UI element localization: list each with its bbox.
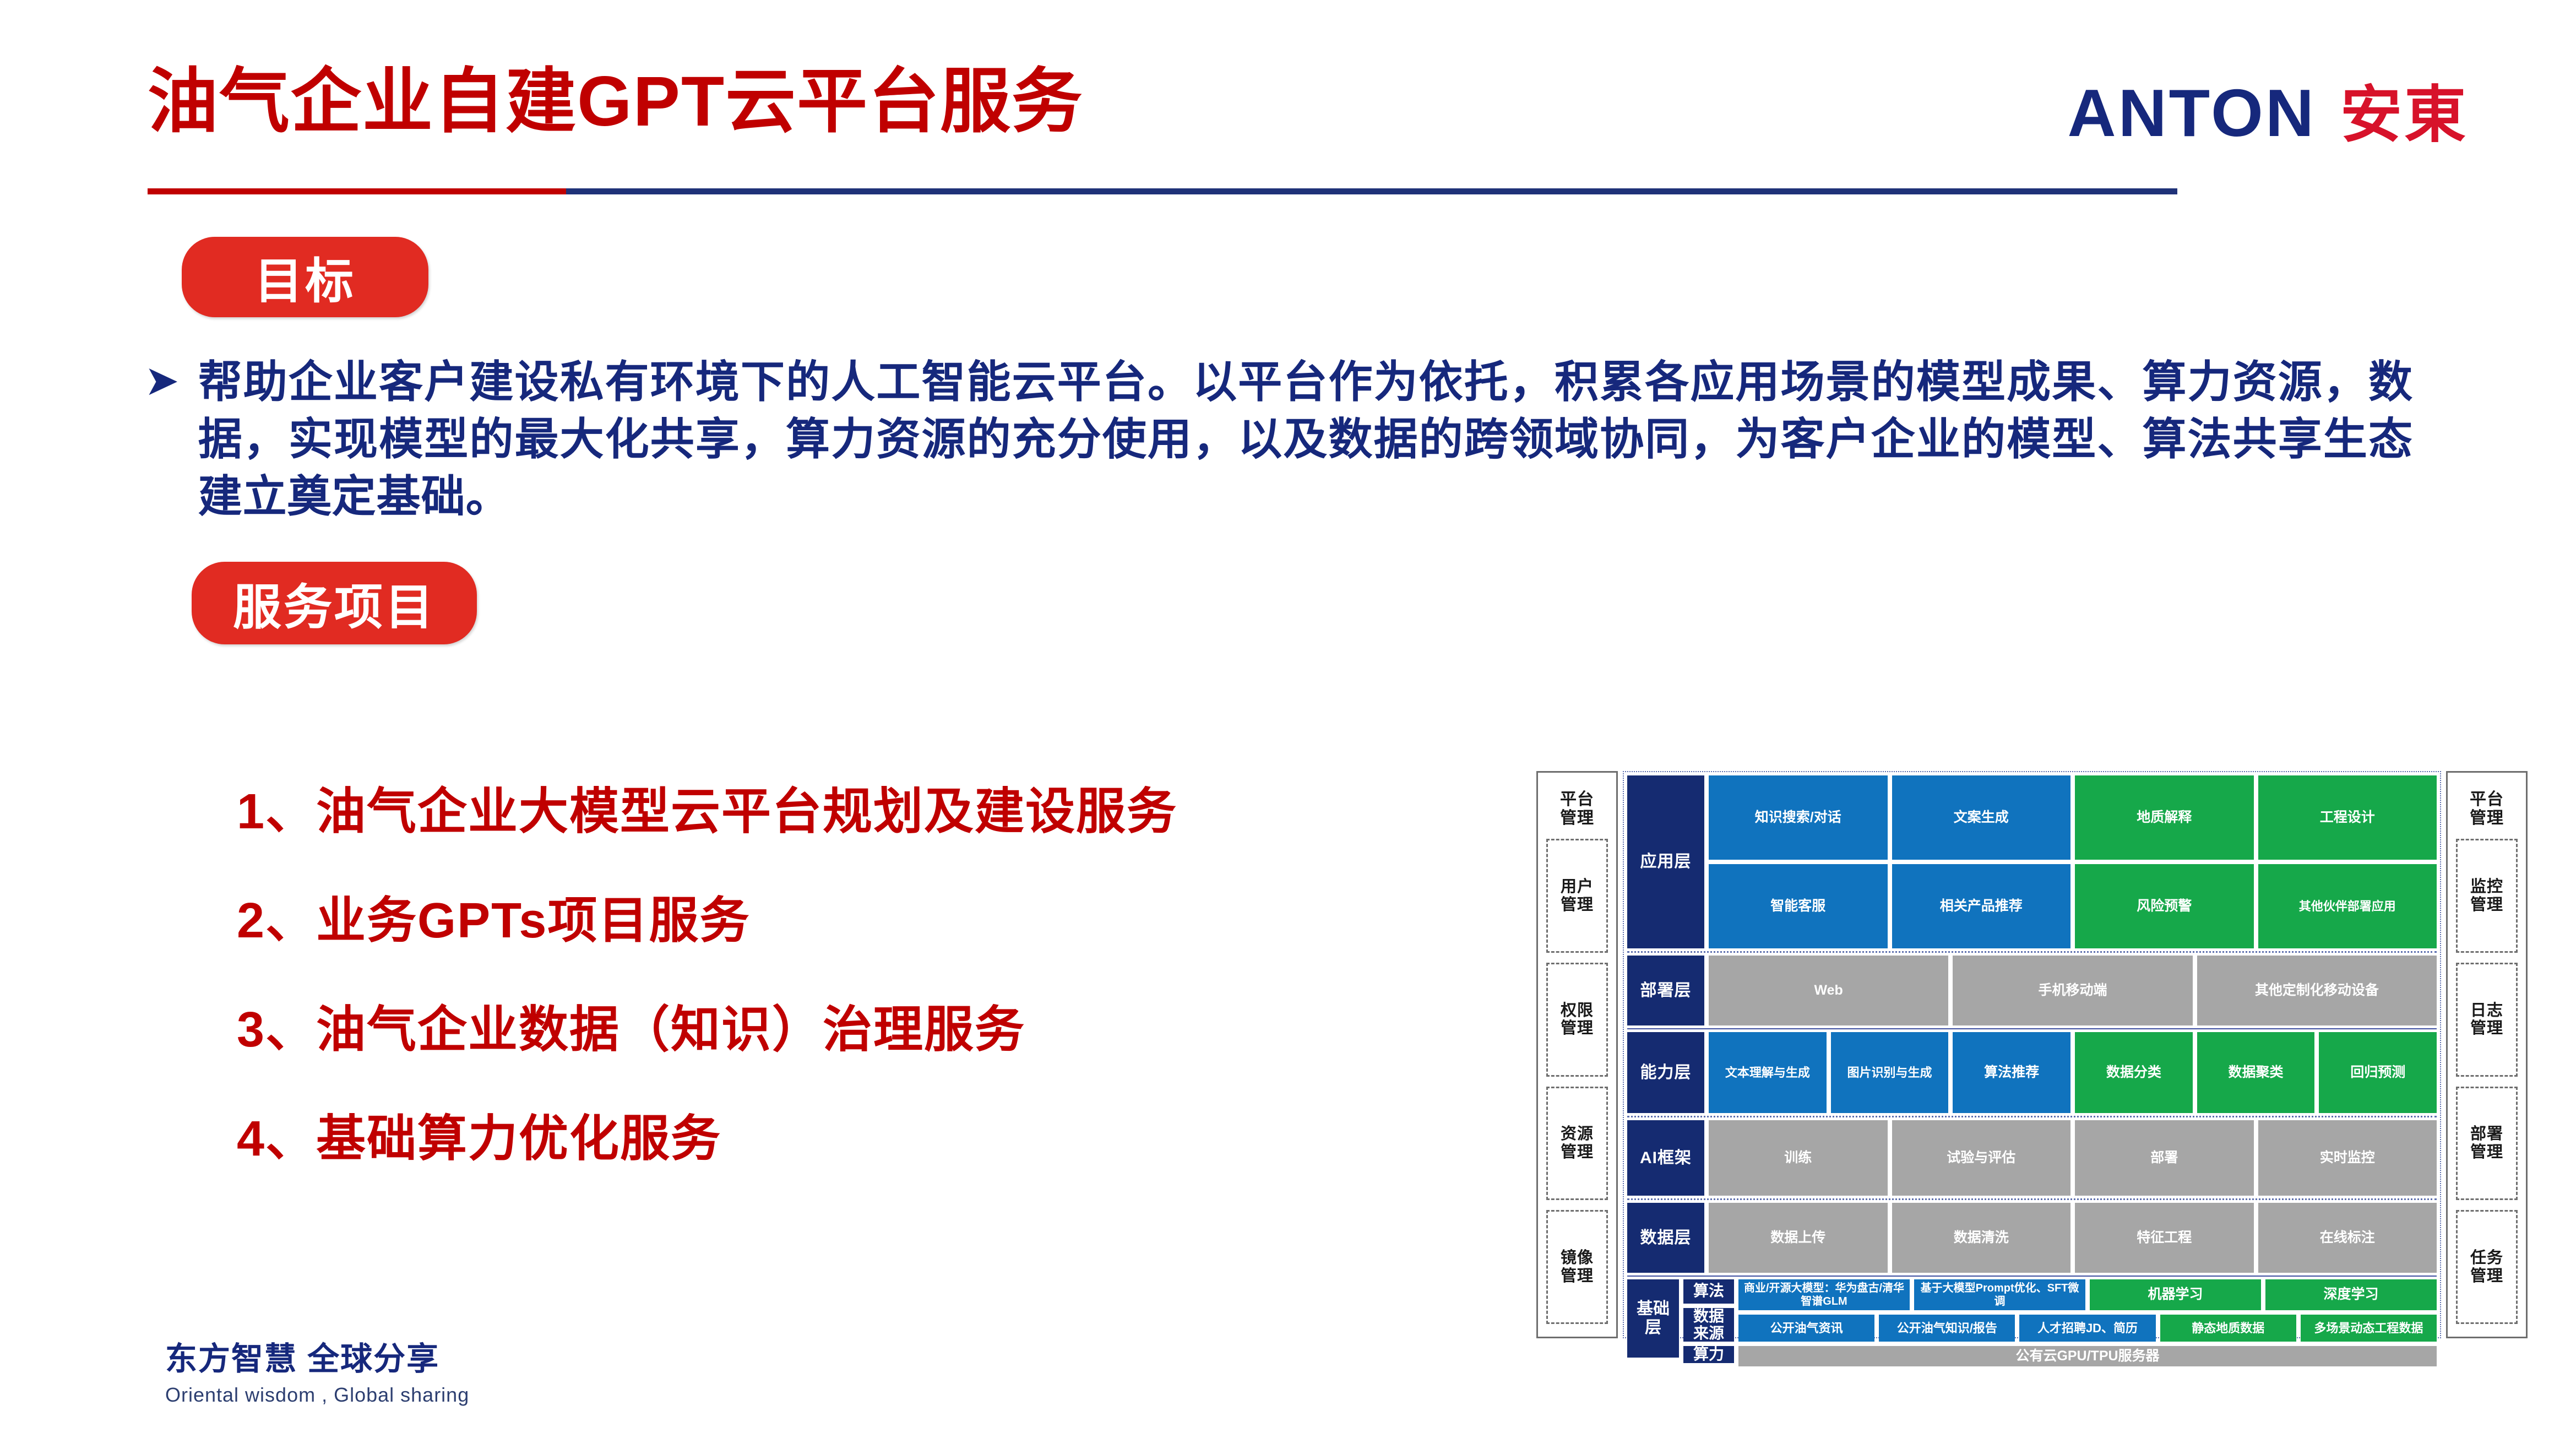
tile-engineering-design: 工程设计 — [2258, 775, 2437, 860]
triangle-right-bullet-icon: ➤ — [144, 354, 180, 525]
service-item-number: 2、 — [237, 891, 316, 951]
tile-knowledge-search-dialog: 知识搜索/对话 — [1709, 775, 1888, 860]
tile-row: 公有云GPU/TPU服务器 — [1738, 1346, 2437, 1366]
tile-online-annotation: 在线标注 — [2258, 1203, 2437, 1273]
mgmt-box-monitoring-line2: 管理 — [2470, 896, 2503, 914]
tile-data-cleaning: 数据清洗 — [1892, 1203, 2071, 1273]
tile-regression-prediction: 回归预测 — [2319, 1032, 2437, 1113]
tile-public-cloud-gpu-tpu-server: 公有云GPU/TPU服务器 — [1738, 1346, 2437, 1366]
tile-deployment: 部署 — [2075, 1120, 2254, 1196]
tile-geological-interpretation: 地质解释 — [2075, 775, 2254, 860]
layer-foundation: 基础 层 算法 数据 来源 算力 商业/开源大模型：华为盘古/清华智谱GLM 基… — [1627, 1279, 2437, 1358]
list-item: 2、 业务GPTs项目服务 — [237, 891, 1503, 951]
layer-ai-framework-tiles: 训练 试验与评估 部署 实时监控 — [1709, 1120, 2437, 1196]
foundation-sub-datasource-line1: 数据 — [1693, 1308, 1724, 1325]
layer-data-tiles: 数据上传 数据清洗 特征工程 在线标注 — [1709, 1203, 2437, 1273]
service-item-label: 油气企业大模型云平台规划及建设服务 — [316, 782, 1177, 842]
tile-image-recognition-generation: 图片识别与生成 — [1831, 1032, 1949, 1113]
mgmt-box-monitoring: 监控 管理 — [2456, 839, 2518, 953]
tile-data-clustering: 数据聚类 — [2197, 1032, 2315, 1113]
tile-web: Web — [1709, 956, 1948, 1025]
list-item: 1、 油气企业大模型云平台规划及建设服务 — [237, 782, 1503, 842]
left-column-header-line1: 平台 — [1560, 790, 1594, 809]
anton-brand-logo: ANTON 安東 — [2067, 65, 2468, 154]
footer-slogan-cn: 东方智慧 全球分享 — [165, 1333, 469, 1379]
tile-multiscenario-dynamic-engineering-data: 多场景动态工程数据 — [2301, 1315, 2437, 1342]
mgmt-box-deployment-line1: 部署 — [2470, 1125, 2503, 1143]
left-column-header-line2: 管理 — [1560, 809, 1594, 828]
tile-feature-engineering: 特征工程 — [2075, 1203, 2254, 1273]
slide-header: 油气企业自建GPT云平台服务 ANTON 安東 — [0, 0, 2576, 209]
foundation-sub-datasource-line2: 来源 — [1693, 1325, 1724, 1342]
foundation-tiles: 商业/开源大模型：华为盘古/清华智谱GLM 基于大模型Prompt优化、SFT微… — [1738, 1279, 2437, 1358]
title-rule-blue-segment — [566, 188, 2177, 194]
tile-row: 文本理解与生成 图片识别与生成 算法推荐 数据分类 数据聚类 回归预测 — [1709, 1032, 2437, 1113]
service-item-number: 1、 — [237, 782, 316, 842]
page-title: 油气企业自建GPT云平台服务 — [148, 65, 1083, 139]
left-column-header: 平台 管理 — [1560, 780, 1594, 834]
tile-row: 知识搜索/对话 文案生成 地质解释 工程设计 — [1709, 775, 2437, 860]
foundation-sub-datasource: 数据 来源 — [1683, 1308, 1734, 1342]
tile-text-understanding-generation: 文本理解与生成 — [1709, 1032, 1827, 1113]
mgmt-box-deployment: 部署 管理 — [2456, 1087, 2518, 1201]
mgmt-box-resource-line1: 资源 — [1561, 1125, 1594, 1143]
architecture-diagram: 平台 管理 用户 管理 权限 管理 资源 管理 镜像 管理 — [1536, 771, 2528, 1338]
logo-cjk-text: 安東 — [2340, 65, 2468, 154]
tile-other-partner-apps: 其他伙伴部署应用 — [2258, 864, 2437, 948]
tile-copy-generation: 文案生成 — [1892, 775, 2071, 860]
layer-application-tiles: 知识搜索/对话 文案生成 地质解释 工程设计 智能客服 相关产品推荐 风险预警 … — [1709, 775, 2437, 948]
tile-row: 公开油气资讯 公开油气知识/报告 人才招聘JD、简历 静态地质数据 多场景动态工… — [1738, 1315, 2437, 1342]
right-column-header-line2: 管理 — [2470, 809, 2504, 828]
mgmt-box-image-line1: 镜像 — [1561, 1249, 1594, 1267]
layer-foundation-label: 基础 层 — [1627, 1279, 1679, 1358]
mgmt-box-user-line2: 管理 — [1561, 896, 1594, 914]
tile-commercial-opensource-llm: 商业/开源大模型：华为盘古/清华智谱GLM — [1738, 1279, 1910, 1310]
tile-recruitment-jd-resume: 人才招聘JD、简历 — [2019, 1315, 2155, 1342]
mgmt-box-permission-line2: 管理 — [1561, 1019, 1594, 1037]
title-rule-red-segment — [148, 188, 566, 194]
list-item: 3、 油气企业数据（知识）治理服务 — [237, 1000, 1503, 1060]
layer-data: 数据层 数据上传 数据清洗 特征工程 在线标注 — [1627, 1203, 2437, 1277]
layer-ai-framework-label: AI框架 — [1627, 1120, 1704, 1196]
tile-machine-learning: 机器学习 — [2090, 1279, 2261, 1310]
mgmt-box-log: 日志 管理 — [2456, 963, 2518, 1077]
tile-prompt-optimization-sft: 基于大模型Prompt优化、SFT微调 — [1914, 1279, 2085, 1310]
mgmt-box-resource-line2: 管理 — [1561, 1143, 1594, 1161]
tile-data-classification: 数据分类 — [2075, 1032, 2193, 1113]
mgmt-box-task-line2: 管理 — [2470, 1267, 2503, 1285]
tile-other-custom-mobile-devices: 其他定制化移动设备 — [2197, 956, 2437, 1025]
tile-deep-learning: 深度学习 — [2265, 1279, 2437, 1310]
right-platform-management-column: 平台 管理 监控 管理 日志 管理 部署 管理 任务 管理 — [2446, 771, 2528, 1338]
services-section-pill: 服务项目 — [192, 562, 477, 644]
mgmt-box-task-line1: 任务 — [2470, 1249, 2503, 1267]
service-item-label: 业务GPTs项目服务 — [316, 891, 750, 951]
layer-application: 应用层 知识搜索/对话 文案生成 地质解释 工程设计 智能客服 相关产品推荐 风… — [1627, 775, 2437, 953]
tile-row: 训练 试验与评估 部署 实时监控 — [1709, 1120, 2437, 1196]
foundation-sub-compute: 算力 — [1683, 1346, 1734, 1363]
service-item-number: 4、 — [237, 1109, 316, 1169]
logo-latin-text: ANTON — [2067, 74, 2316, 151]
tile-row: Web 手机移动端 其他定制化移动设备 — [1709, 956, 2437, 1025]
layer-data-label: 数据层 — [1627, 1203, 1704, 1273]
mgmt-box-image-line2: 管理 — [1561, 1267, 1594, 1285]
layer-application-label: 应用层 — [1627, 775, 1704, 948]
title-underline-rule — [148, 188, 2177, 194]
tile-row: 数据上传 数据清洗 特征工程 在线标注 — [1709, 1203, 2437, 1273]
mgmt-box-permission-line1: 权限 — [1561, 1002, 1594, 1019]
mgmt-box-monitoring-line1: 监控 — [2470, 878, 2503, 896]
goal-section-pill: 目标 — [182, 237, 428, 317]
mgmt-box-user-line1: 用户 — [1561, 878, 1594, 896]
layer-capability: 能力层 文本理解与生成 图片识别与生成 算法推荐 数据分类 数据聚类 回归预测 — [1627, 1032, 2437, 1117]
mgmt-box-image: 镜像 管理 — [1546, 1210, 1608, 1324]
tile-risk-warning: 风险预警 — [2075, 864, 2254, 948]
mgmt-box-deployment-line2: 管理 — [2470, 1143, 2503, 1161]
tile-row: 智能客服 相关产品推荐 风险预警 其他伙伴部署应用 — [1709, 864, 2437, 948]
layer-ai-framework: AI框架 训练 试验与评估 部署 实时监控 — [1627, 1120, 2437, 1200]
layer-foundation-label-line2: 层 — [1637, 1318, 1670, 1337]
tile-training: 训练 — [1709, 1120, 1888, 1196]
tile-intelligent-customer-service: 智能客服 — [1709, 864, 1888, 948]
goal-paragraph-text: 帮助企业客户建设私有环境下的人工智能云平台。以平台作为依托，积累各应用场景的模型… — [198, 354, 2413, 525]
service-item-number: 3、 — [237, 1000, 316, 1060]
left-platform-management-column: 平台 管理 用户 管理 权限 管理 资源 管理 镜像 管理 — [1536, 771, 1618, 1338]
service-item-label: 基础算力优化服务 — [316, 1109, 721, 1169]
tile-data-upload: 数据上传 — [1709, 1203, 1888, 1273]
tile-public-oilgas-knowledge-report: 公开油气知识/报告 — [1879, 1315, 2015, 1342]
tile-public-oilgas-news: 公开油气资讯 — [1738, 1315, 1874, 1342]
layer-capability-label: 能力层 — [1627, 1032, 1704, 1113]
mgmt-box-log-line1: 日志 — [2470, 1002, 2503, 1019]
mgmt-box-resource: 资源 管理 — [1546, 1087, 1608, 1201]
tile-static-geological-data: 静态地质数据 — [2160, 1315, 2296, 1342]
tile-mobile: 手机移动端 — [1953, 956, 2192, 1025]
foundation-sub-labels: 算法 数据 来源 算力 — [1683, 1279, 1734, 1358]
layer-deployment-label: 部署层 — [1627, 956, 1704, 1025]
service-items-list: 1、 油气企业大模型云平台规划及建设服务 2、 业务GPTs项目服务 3、 油气… — [237, 782, 1503, 1218]
platform-layer-stack: 应用层 知识搜索/对话 文案生成 地质解释 工程设计 智能客服 相关产品推荐 风… — [1623, 771, 2441, 1338]
list-item: 4、 基础算力优化服务 — [237, 1109, 1503, 1169]
tile-realtime-monitoring: 实时监控 — [2258, 1120, 2437, 1196]
tile-algorithm-recommendation: 算法推荐 — [1953, 1032, 2070, 1113]
right-column-header: 平台 管理 — [2470, 780, 2504, 834]
right-column-header-line1: 平台 — [2470, 790, 2504, 809]
tile-experiment-evaluation: 试验与评估 — [1892, 1120, 2071, 1196]
mgmt-box-task: 任务 管理 — [2456, 1210, 2518, 1324]
footer-slogan-en: Oriental wisdom , Global sharing — [165, 1383, 469, 1407]
slide-footer: 东方智慧 全球分享 Oriental wisdom , Global shari… — [165, 1333, 469, 1407]
layer-deployment: 部署层 Web 手机移动端 其他定制化移动设备 — [1627, 956, 2437, 1029]
foundation-sub-algorithm: 算法 — [1683, 1279, 1734, 1304]
mgmt-box-log-line2: 管理 — [2470, 1019, 2503, 1037]
layer-capability-tiles: 文本理解与生成 图片识别与生成 算法推荐 数据分类 数据聚类 回归预测 — [1709, 1032, 2437, 1113]
mgmt-box-permission: 权限 管理 — [1546, 963, 1608, 1077]
goal-paragraph-block: ➤ 帮助企业客户建设私有环境下的人工智能云平台。以平台作为依托，积累各应用场景的… — [144, 354, 2413, 525]
layer-deployment-tiles: Web 手机移动端 其他定制化移动设备 — [1709, 956, 2437, 1025]
mgmt-box-user: 用户 管理 — [1546, 839, 1608, 953]
service-item-label: 油气企业数据（知识）治理服务 — [316, 1000, 1025, 1060]
tile-row: 商业/开源大模型：华为盘古/清华智谱GLM 基于大模型Prompt优化、SFT微… — [1738, 1279, 2437, 1310]
layer-foundation-label-line1: 基础 — [1637, 1300, 1670, 1318]
tile-related-product-recommendation: 相关产品推荐 — [1892, 864, 2071, 948]
